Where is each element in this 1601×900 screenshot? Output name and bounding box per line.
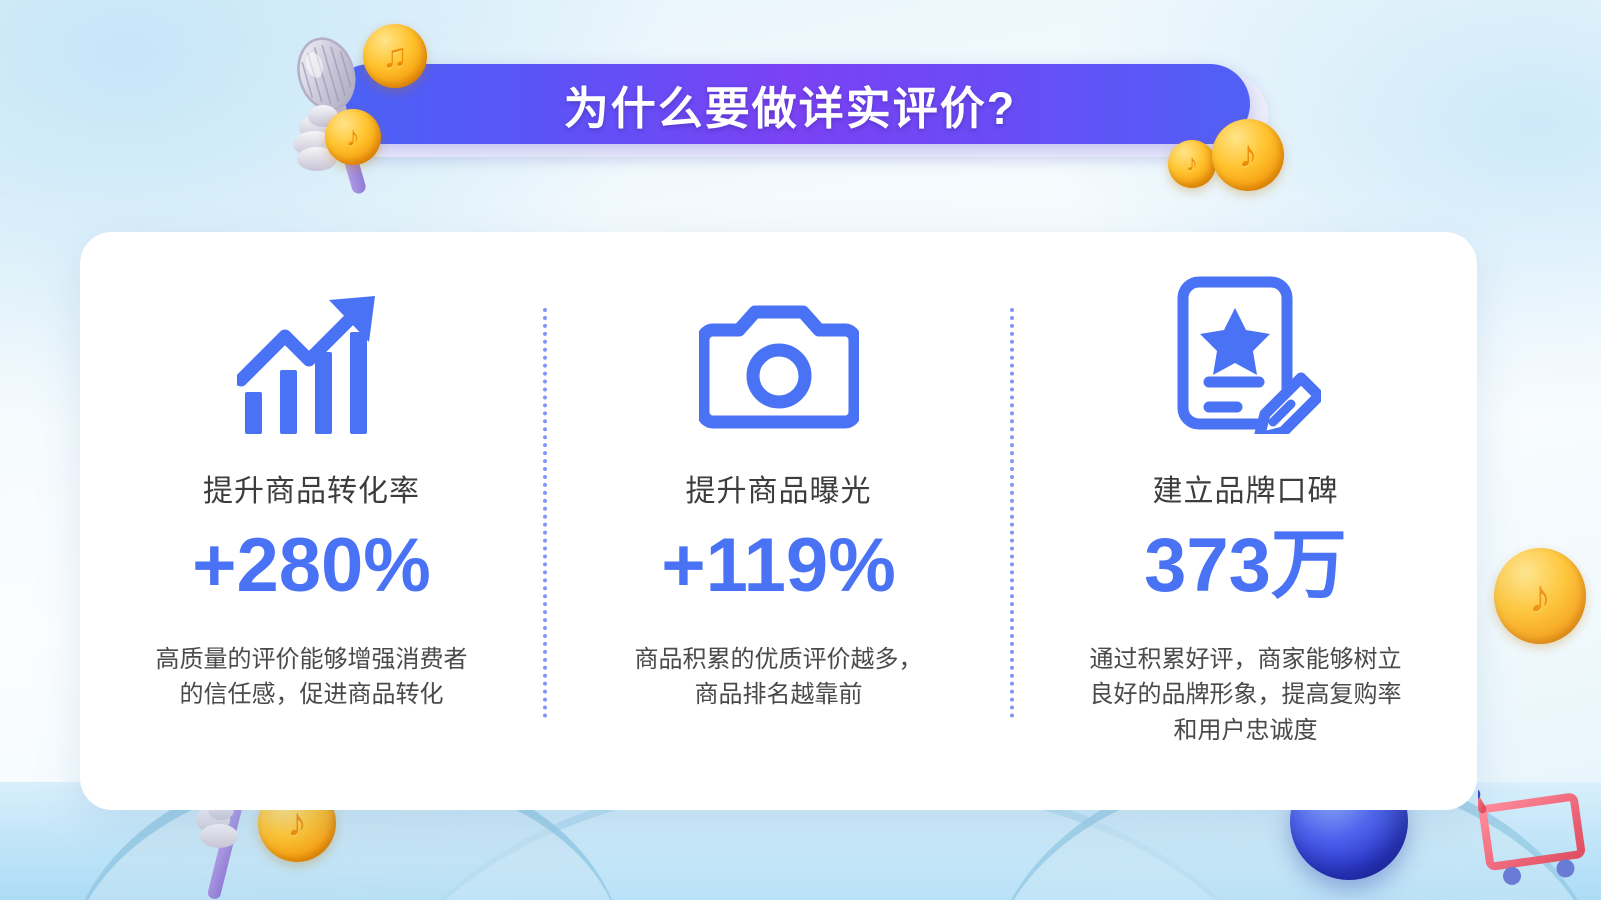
gold-coin-behind-card-icon: ♪ — [1494, 548, 1586, 644]
stat-column-reputation: 建立品牌口碑 373万 通过积累好评，商家能够树立良好的品牌形象，提高复购率和用… — [1014, 232, 1477, 810]
column-stat: +119% — [661, 526, 896, 606]
column-title: 提升商品曝光 — [686, 466, 872, 510]
poster-stage: ♪ 为什么要做详实评价? — [0, 0, 1601, 900]
review-document-icon — [1171, 284, 1321, 434]
column-title: 建立品牌口碑 — [1153, 466, 1339, 510]
stats-card: 提升商品转化率 +280% 高质量的评价能够增强消费者的信任感，促进商品转化 提… — [80, 232, 1477, 810]
page-title: 为什么要做详实评价? — [564, 72, 1017, 137]
column-stat: 373万 — [1144, 526, 1347, 606]
growth-chart-icon — [237, 284, 387, 434]
column-stat: +280% — [192, 526, 431, 606]
stat-column-exposure: 提升商品曝光 +119% 商品积累的优质评价越多，商品排名越靠前 — [547, 232, 1010, 810]
camera-icon — [699, 284, 859, 434]
column-description: 商品积累的优质评价越多，商品排名越靠前 — [635, 642, 923, 713]
header-banner: 为什么要做详实评价? — [330, 64, 1258, 150]
column-description: 高质量的评价能够增强消费者的信任感，促进商品转化 — [156, 642, 468, 713]
column-title: 提升商品转化率 — [203, 466, 420, 510]
stat-column-conversion: 提升商品转化率 +280% 高质量的评价能够增强消费者的信任感，促进商品转化 — [80, 232, 543, 810]
banner-pill: 为什么要做详实评价? — [330, 64, 1250, 144]
column-description: 通过积累好评，商家能够树立良好的品牌形象，提高复购率和用户忠诚度 — [1090, 642, 1402, 749]
